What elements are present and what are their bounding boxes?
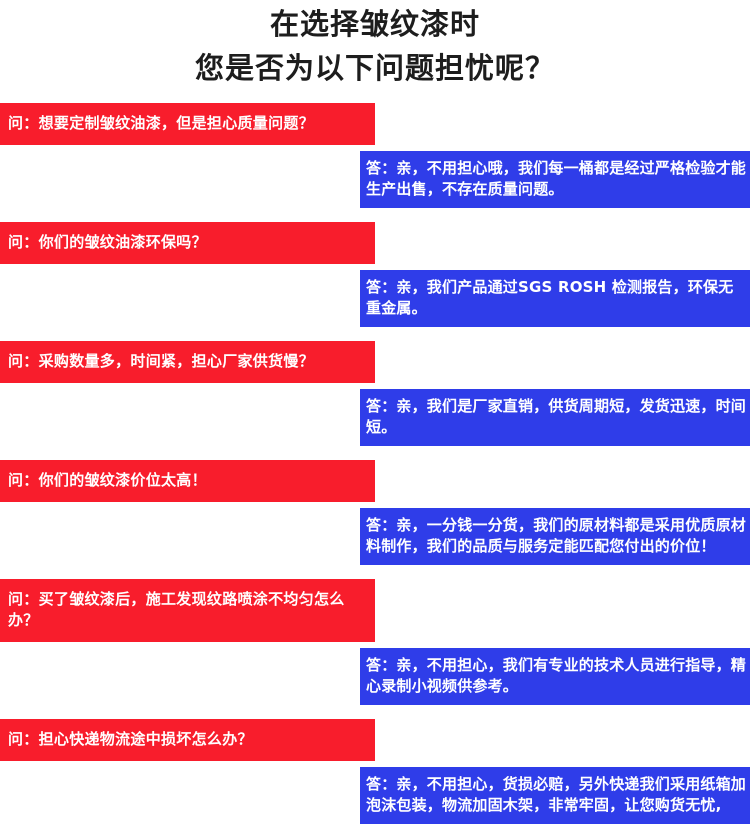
page-title-line-2: 您是否为以下问题担忧呢？ [0, 46, 750, 90]
spacer [0, 446, 750, 460]
faq-answer-4: 答：亲，一分钱一分货，我们的原材料都是采用优质原材料制作，我们的品质与服务定能匹… [360, 508, 750, 565]
faq-item-1: 问：想要定制皱纹油漆，但是担心质量问题？ 答：亲，不用担心哦，我们每一桶都是经过… [0, 103, 750, 208]
spacer [0, 208, 750, 222]
faq-question-1: 问：想要定制皱纹油漆，但是担心质量问题？ [0, 103, 375, 145]
faq-answer-1: 答：亲，不用担心哦，我们每一桶都是经过严格检验才能生产出售，不存在质量问题。 [360, 151, 750, 208]
faq-item-2: 问：你们的皱纹油漆环保吗？ 答：亲，我们产品通过SGS ROSH 检测报告，环保… [0, 222, 750, 327]
faq-item-6: 问：担心快递物流途中损坏怎么办？ 答：亲，不用担心，货损必赔，另外快递我们采用纸… [0, 719, 750, 824]
page-title: 在选择皱纹漆时 您是否为以下问题担忧呢？ [0, 2, 750, 90]
faq-item-5: 问：买了皱纹漆后，施工发现纹路喷涂不均匀怎么办？ 答：亲，不用担心，我们有专业的… [0, 579, 750, 705]
faq-page: 在选择皱纹漆时 您是否为以下问题担忧呢？ 问：想要定制皱纹油漆，但是担心质量问题… [0, 0, 750, 610]
faq-answer-2: 答：亲，我们产品通过SGS ROSH 检测报告，环保无重金属。 [360, 270, 750, 327]
faq-answer-3: 答：亲，我们是厂家直销，供货周期短，发货迅速，时间短。 [360, 389, 750, 446]
faq-question-6: 问：担心快递物流途中损坏怎么办？ [0, 719, 375, 761]
spacer [0, 565, 750, 579]
spacer [0, 705, 750, 719]
page-title-line-1: 在选择皱纹漆时 [0, 2, 750, 46]
faq-answer-6: 答：亲，不用担心，货损必赔，另外快递我们采用纸箱加泡沫包装，物流加固木架，非常牢… [360, 767, 750, 824]
faq-item-3: 问：采购数量多，时间紧，担心厂家供货慢？ 答：亲，我们是厂家直销，供货周期短，发… [0, 341, 750, 446]
faq-question-2: 问：你们的皱纹油漆环保吗？ [0, 222, 375, 264]
faq-question-5: 问：买了皱纹漆后，施工发现纹路喷涂不均匀怎么办？ [0, 579, 375, 642]
spacer [0, 327, 750, 341]
faq-question-3: 问：采购数量多，时间紧，担心厂家供货慢？ [0, 341, 375, 383]
faq-answer-5: 答：亲，不用担心，我们有专业的技术人员进行指导，精心录制小视频供参考。 [360, 648, 750, 705]
faq-question-4: 问：你们的皱纹漆价位太高！ [0, 460, 375, 502]
faq-item-4: 问：你们的皱纹漆价位太高！ 答：亲，一分钱一分货，我们的原材料都是采用优质原材料… [0, 460, 750, 565]
faq-list: 问：想要定制皱纹油漆，但是担心质量问题？ 答：亲，不用担心哦，我们每一桶都是经过… [0, 103, 750, 824]
